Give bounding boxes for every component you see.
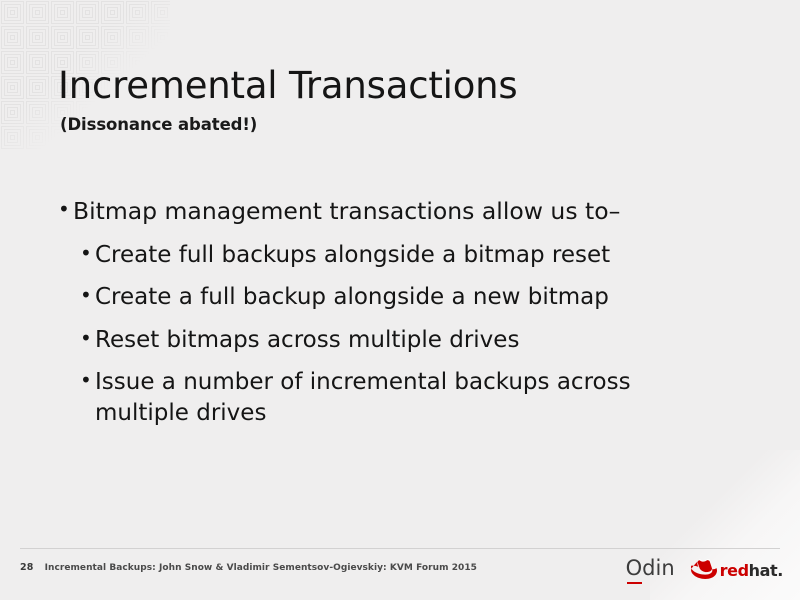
redhat-word-hat: hat. <box>749 561 783 580</box>
list-item-label: Create a full backup alongside a new bit… <box>95 282 695 313</box>
pattern-cell <box>25 0 50 25</box>
title-block: Incremental Transactions (Dissonance aba… <box>58 66 758 134</box>
page-subtitle: (Dissonance abated!) <box>60 115 758 134</box>
redhat-logo: redhat. <box>691 559 783 583</box>
pattern-cell <box>125 25 150 50</box>
pattern-cell <box>25 125 50 150</box>
pattern-cell <box>75 25 100 50</box>
footer: 28 Incremental Backups: John Snow & Vlad… <box>20 562 477 573</box>
pattern-cell <box>25 50 50 75</box>
list-item: •Reset bitmaps across multiple drives <box>80 316 748 356</box>
logo-group: Odin redhat. <box>626 558 783 584</box>
list-item-label: Bitmap management transactions allow us … <box>73 196 748 227</box>
pattern-cell <box>25 75 50 100</box>
bullet-marker-icon: • <box>80 240 95 267</box>
pattern-cell <box>150 0 170 25</box>
pattern-cell <box>0 25 25 50</box>
list-item-label: Create full backups alongside a bitmap r… <box>95 240 695 271</box>
pattern-cell <box>25 100 50 125</box>
bullet-marker-icon: • <box>58 196 73 222</box>
list-item: •Issue a number of incremental backups a… <box>80 358 748 428</box>
pattern-cell <box>50 25 75 50</box>
pattern-cell <box>75 0 100 25</box>
pattern-cell <box>0 0 25 25</box>
redhat-shadowman-icon <box>691 559 717 583</box>
list-item-label: Issue a number of incremental backups ac… <box>95 367 695 428</box>
pattern-cell <box>150 25 170 50</box>
list-item: •Bitmap management transactions allow us… <box>58 196 748 227</box>
pattern-cell <box>100 25 125 50</box>
pattern-cell <box>0 125 25 150</box>
slide-canvas: Incremental Transactions (Dissonance aba… <box>0 0 800 600</box>
pattern-cell <box>0 50 25 75</box>
odin-logo: Odin <box>626 558 675 584</box>
redhat-word-red: red <box>720 561 749 580</box>
footer-attribution: Incremental Backups: John Snow & Vladimi… <box>45 563 477 573</box>
footer-divider <box>20 548 780 549</box>
list-item-label: Reset bitmaps across multiple drives <box>95 325 695 356</box>
list-item: •Create a full backup alongside a new bi… <box>80 273 748 313</box>
pattern-cell <box>25 25 50 50</box>
pattern-cell <box>0 75 25 100</box>
pattern-cell <box>0 100 25 125</box>
pattern-cell <box>125 0 150 25</box>
bullet-marker-icon: • <box>80 367 95 394</box>
pattern-cell <box>50 0 75 25</box>
bullet-list: •Bitmap management transactions allow us… <box>58 196 748 431</box>
odin-wordmark: Odin <box>626 556 675 580</box>
page-number: 28 <box>20 562 34 573</box>
odin-accent-underline <box>627 582 642 584</box>
redhat-wordmark: redhat. <box>720 563 783 579</box>
bullet-marker-icon: • <box>80 282 95 309</box>
list-item: •Create full backups alongside a bitmap … <box>80 231 748 271</box>
page-title: Incremental Transactions <box>58 66 758 106</box>
bullet-marker-icon: • <box>80 325 95 352</box>
pattern-cell <box>100 0 125 25</box>
